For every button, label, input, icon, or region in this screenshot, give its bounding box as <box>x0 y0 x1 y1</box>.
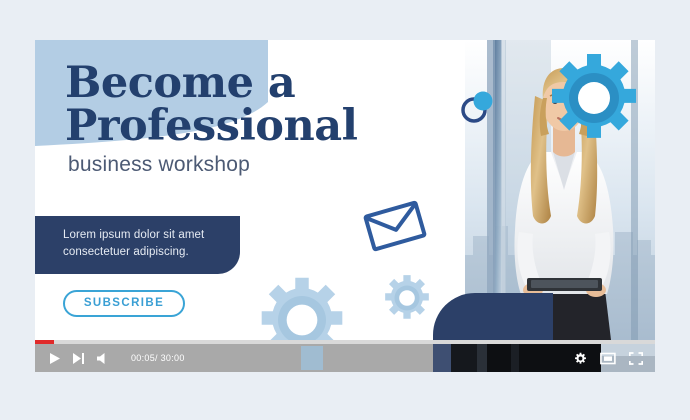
envelope-icon <box>360 198 430 259</box>
subtitle: business workshop <box>68 153 485 177</box>
lorem-text: Lorem ipsum dolor sit amet consectetuer … <box>63 227 218 262</box>
volume-button[interactable] <box>96 352 109 365</box>
gear-large-cyan-icon <box>544 48 644 153</box>
fullscreen-button[interactable] <box>629 352 643 365</box>
lorem-box: Lorem ipsum dolor sit amet consectetuer … <box>35 216 240 274</box>
headline-line-2: Professional <box>65 105 485 148</box>
controls-right-group <box>574 344 643 372</box>
navy-corner-shape <box>433 293 553 340</box>
headline-group: Become a Professional business workshop <box>65 62 485 177</box>
scrub-handle[interactable] <box>301 346 323 370</box>
video-player-card: Become a Professional business workshop … <box>35 40 655 372</box>
play-button[interactable] <box>48 352 61 365</box>
next-button[interactable] <box>72 352 85 365</box>
player-control-bar: 00:05/ 30:00 <box>35 344 655 372</box>
headline-line-1: Become a <box>65 62 485 105</box>
settings-button[interactable] <box>574 352 587 365</box>
video-stage[interactable]: Become a Professional business workshop … <box>35 40 655 340</box>
controls-left-group: 00:05/ 30:00 <box>48 344 185 372</box>
subscribe-button[interactable]: SUBSCRIBE <box>63 290 185 317</box>
gear-pale-small-icon <box>381 272 433 329</box>
miniplayer-button[interactable] <box>600 352 616 365</box>
gear-pale-large-icon <box>254 272 350 340</box>
time-display: 00:05/ 30:00 <box>131 353 185 363</box>
